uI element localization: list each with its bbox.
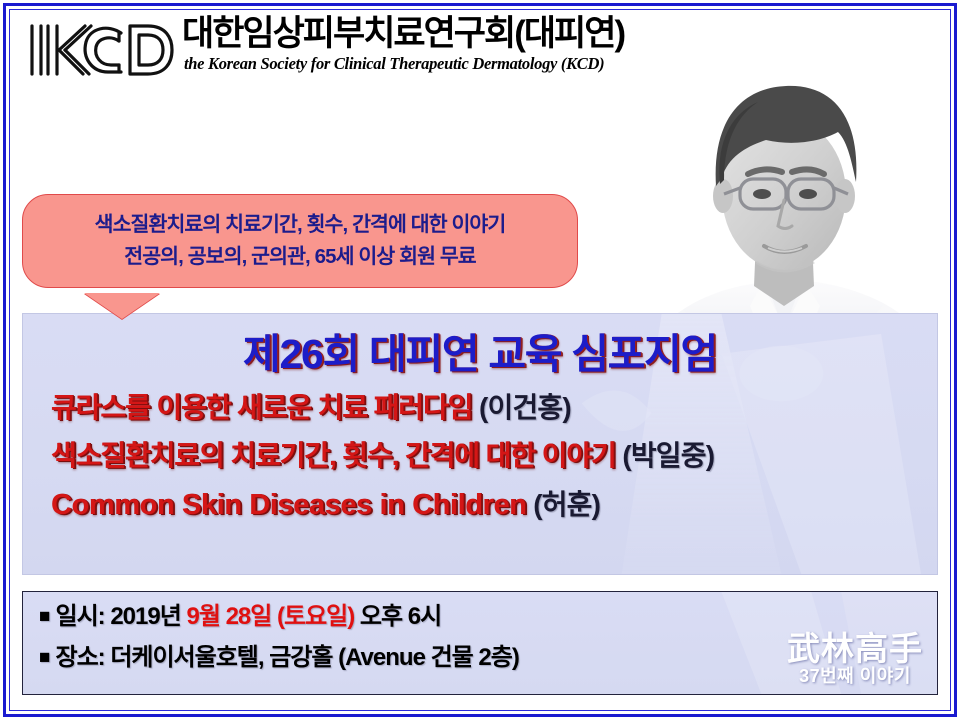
notice-line-1: 색소질환치료의 치료기간, 횟수, 간격에 대한 이야기: [35, 209, 565, 241]
lecture-title: Common Skin Diseases in Children: [51, 489, 527, 521]
organization-name-english: the Korean Society for Clinical Therapeu…: [184, 54, 624, 74]
venue-label: 장소:: [55, 644, 104, 671]
lecture-speaker: (박일중): [622, 440, 714, 471]
datetime-date-highlight: 9월 28일 (토요일): [186, 603, 354, 630]
poster-canvas: 대한임상피부치료연구회(대피연) the Korean Society for …: [0, 0, 960, 720]
bullet-square-icon: ■: [39, 606, 49, 627]
lecture-title: 색소질환치료의 치료기간, 횟수, 간격에 대한 이야기: [51, 440, 616, 471]
lecture-title: 큐라스를 이용한 새로운 치료 패러다임: [51, 392, 472, 423]
notice-line-2: 전공의, 공보의, 군의관, 65세 이상 회원 무료: [35, 241, 565, 273]
poster-header: 대한임상피부치료연구회(대피연) the Korean Society for …: [22, 14, 624, 82]
venue-value: 더케이서울호텔, 금강홀 (Avenue 건물 2층): [110, 644, 519, 671]
lecture-speaker: (허훈): [533, 489, 600, 520]
symposium-title: 제26회 대피연 교육 심포지엄: [37, 334, 923, 375]
lecture-item: 색소질환치료의 치료기간, 횟수, 간격에 대한 이야기 (박일중): [37, 440, 923, 471]
lecture-item: Common Skin Diseases in Children (허훈): [37, 489, 923, 521]
datetime-year: 2019년: [110, 603, 180, 630]
organization-name-korean: 대한임상피부치료연구회(대피연): [182, 16, 624, 53]
notice-speech-bubble: 색소질환치료의 치료기간, 횟수, 간격에 대한 이야기 전공의, 공보의, 군…: [22, 194, 578, 288]
datetime-time: 오후 6시: [360, 603, 441, 630]
lecture-speaker: (이건홍): [479, 392, 571, 423]
lecture-item: 큐라스를 이용한 새로운 치료 패러다임 (이건홍): [37, 392, 923, 423]
speech-bubble-tail: [84, 293, 160, 319]
event-details-box: ■일시: 2019년 9월 28일 (토요일) 오후 6시 ■장소: 더케이서울…: [22, 591, 938, 695]
event-datetime-row: ■일시: 2019년 9월 28일 (토요일) 오후 6시: [39, 605, 937, 629]
datetime-label: 일시:: [55, 603, 104, 630]
bullet-square-icon: ■: [39, 647, 49, 668]
kcd-logo-icon: [22, 16, 174, 82]
event-venue-row: ■장소: 더케이서울호텔, 금강홀 (Avenue 건물 2층): [39, 646, 937, 670]
symposium-panel: 제26회 대피연 교육 심포지엄 큐라스를 이용한 새로운 치료 패러다임 (이…: [22, 313, 938, 575]
